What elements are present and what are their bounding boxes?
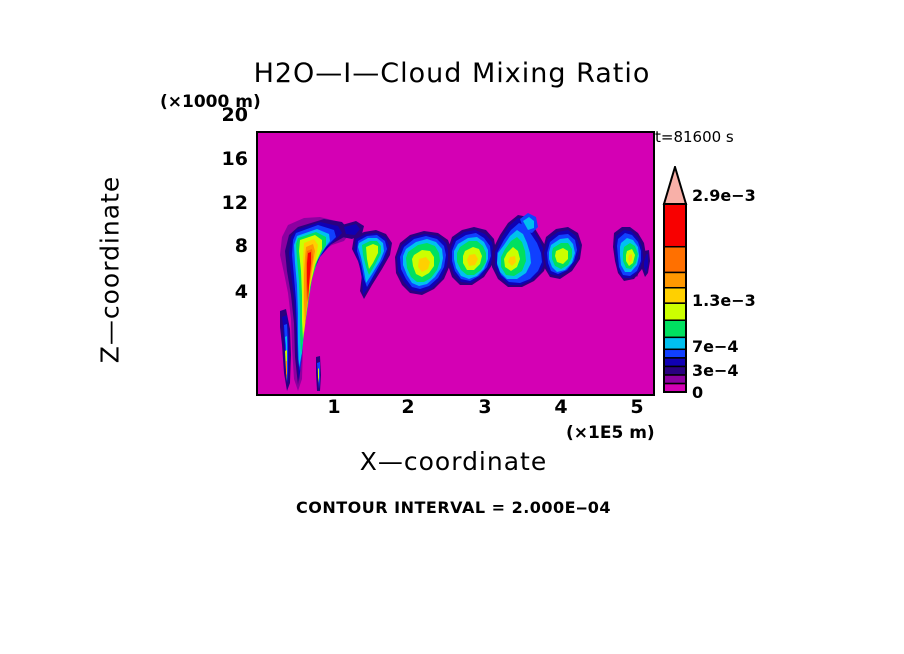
time-stamp-label: t=81600 s xyxy=(655,128,734,146)
page-title: H2O—I—Cloud Mixing Ratio xyxy=(0,58,904,89)
colorbar[interactable] xyxy=(662,166,688,394)
x-tick-5: 5 xyxy=(630,396,643,418)
colorbar-label-4: 3e−4 xyxy=(692,361,739,380)
y-tick-4: 4 xyxy=(235,281,248,303)
y-axis-tick-labels: 4 8 12 16 20 xyxy=(200,131,248,392)
contour-interval-label: CONTOUR INTERVAL = 2.000E‒04 xyxy=(256,498,651,517)
colorbar-gradient xyxy=(662,166,688,394)
x-tick-1: 1 xyxy=(327,396,340,418)
y-tick-8: 8 xyxy=(235,235,248,257)
colorbar-label-zero: 0 xyxy=(692,383,703,402)
colorbar-label-2: 1.3e−3 xyxy=(692,291,756,310)
y-tick-16: 16 xyxy=(222,148,248,170)
x-axis-title: X—coordinate xyxy=(256,447,651,476)
x-axis-tick-labels: 1 2 3 4 5 xyxy=(256,396,651,422)
x-tick-2: 2 xyxy=(401,396,414,418)
x-axis-units-label: (×1E5 m) xyxy=(566,423,655,443)
y-axis-title: Z—coordinate xyxy=(96,125,125,415)
y-tick-20: 20 xyxy=(222,104,248,126)
x-tick-4: 4 xyxy=(554,396,567,418)
contour-field xyxy=(258,133,653,394)
colorbar-label-top: 2.9e−3 xyxy=(692,186,756,205)
contour-plot-area[interactable] xyxy=(256,131,655,396)
colorbar-label-3: 7e−4 xyxy=(692,337,739,356)
x-tick-3: 3 xyxy=(478,396,491,418)
y-tick-12: 12 xyxy=(222,192,248,214)
